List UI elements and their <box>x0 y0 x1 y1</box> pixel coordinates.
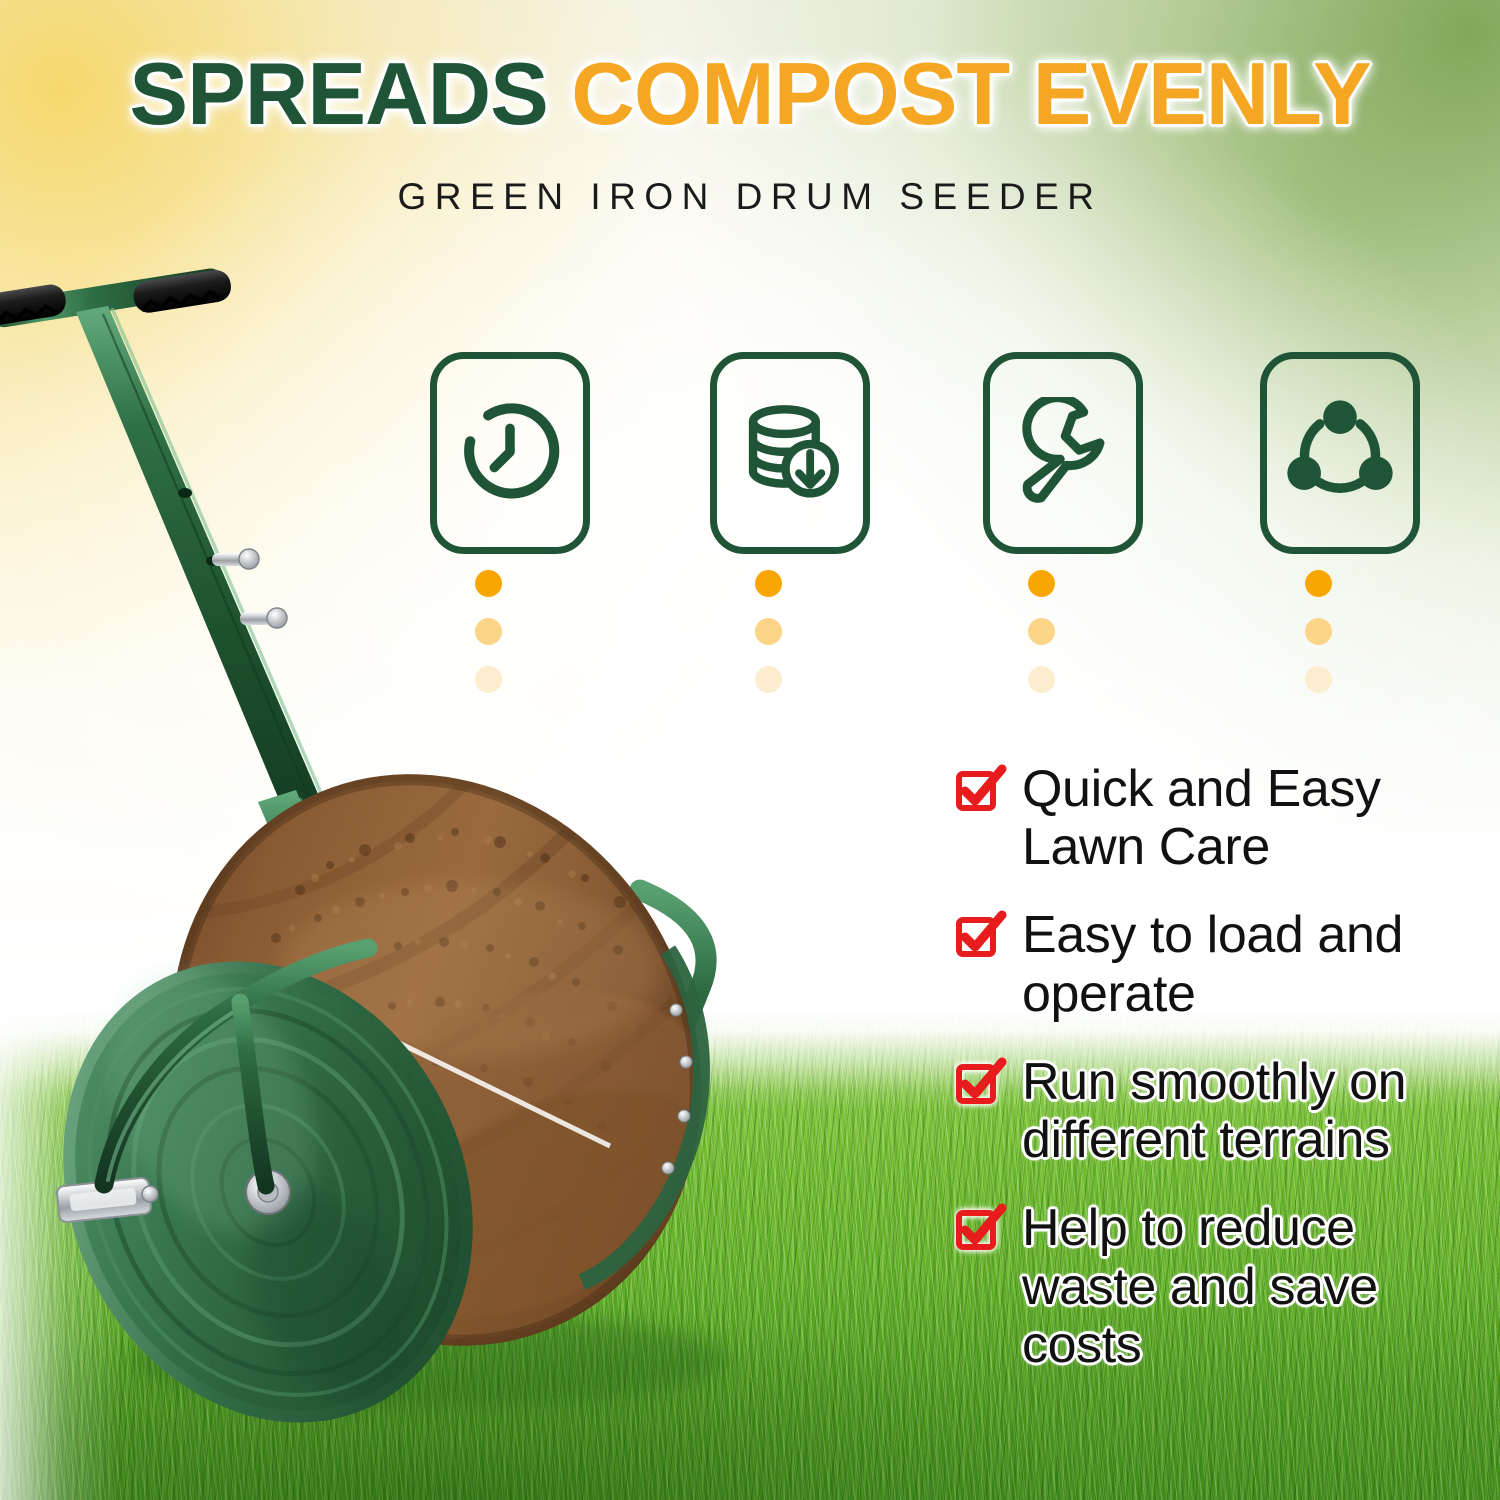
share-network-icon <box>1284 397 1396 509</box>
dot-stack-4 <box>1305 570 1335 714</box>
dot-light <box>1305 666 1332 693</box>
benefit-list: Quick and Easy Lawn Care Easy to load an… <box>958 760 1488 1404</box>
dot-strong <box>1028 570 1055 597</box>
telescoping-handle-shaft <box>76 306 337 850</box>
product-image <box>0 250 980 1500</box>
benefit-text: Easy to load and operate <box>1022 906 1488 1022</box>
feature-icon-col-4 <box>1260 352 1420 554</box>
headline: SPREADS COMPOST EVENLY <box>0 48 1500 140</box>
adjust-hole <box>178 488 192 498</box>
dot-mid <box>1028 618 1055 645</box>
lawn-roller-illustration <box>0 250 980 1500</box>
feature-card-versatile[interactable] <box>1260 352 1420 554</box>
adjustment-knob-lower[interactable] <box>240 608 287 628</box>
feature-icon-col-3 <box>983 352 1143 554</box>
headline-part-1: SPREADS <box>129 44 547 143</box>
dot-light <box>1028 666 1055 693</box>
benefit-item: Quick and Easy Lawn Care <box>958 760 1488 876</box>
benefit-item: Run smoothly on different terrains <box>958 1053 1488 1169</box>
feature-card-wrench[interactable] <box>983 352 1143 554</box>
benefit-item: Help to reduce waste and save costs <box>958 1199 1488 1374</box>
dot-stack-3 <box>1028 570 1058 714</box>
benefit-text: Quick and Easy Lawn Care <box>1022 760 1488 876</box>
wrench-icon <box>1007 397 1119 509</box>
adjustment-knob-upper[interactable] <box>212 549 259 569</box>
checkbox-checked-icon <box>958 1063 1004 1109</box>
benefit-item: Easy to load and operate <box>958 906 1488 1022</box>
checkbox-checked-icon <box>958 1209 1004 1255</box>
headline-part-2: COMPOST EVENLY <box>571 44 1370 143</box>
checkbox-checked-icon <box>958 770 1004 816</box>
subtitle: GREEN IRON DRUM SEEDER <box>0 176 1500 218</box>
checkbox-checked-icon <box>958 916 1004 962</box>
benefit-text: Help to reduce waste and save costs <box>1022 1199 1488 1374</box>
product-banner: SPREADS COMPOST EVENLY GREEN IRON DRUM S… <box>0 0 1500 1500</box>
dot-mid <box>1305 618 1332 645</box>
dot-strong <box>1305 570 1332 597</box>
benefit-text: Run smoothly on different terrains <box>1022 1053 1488 1169</box>
